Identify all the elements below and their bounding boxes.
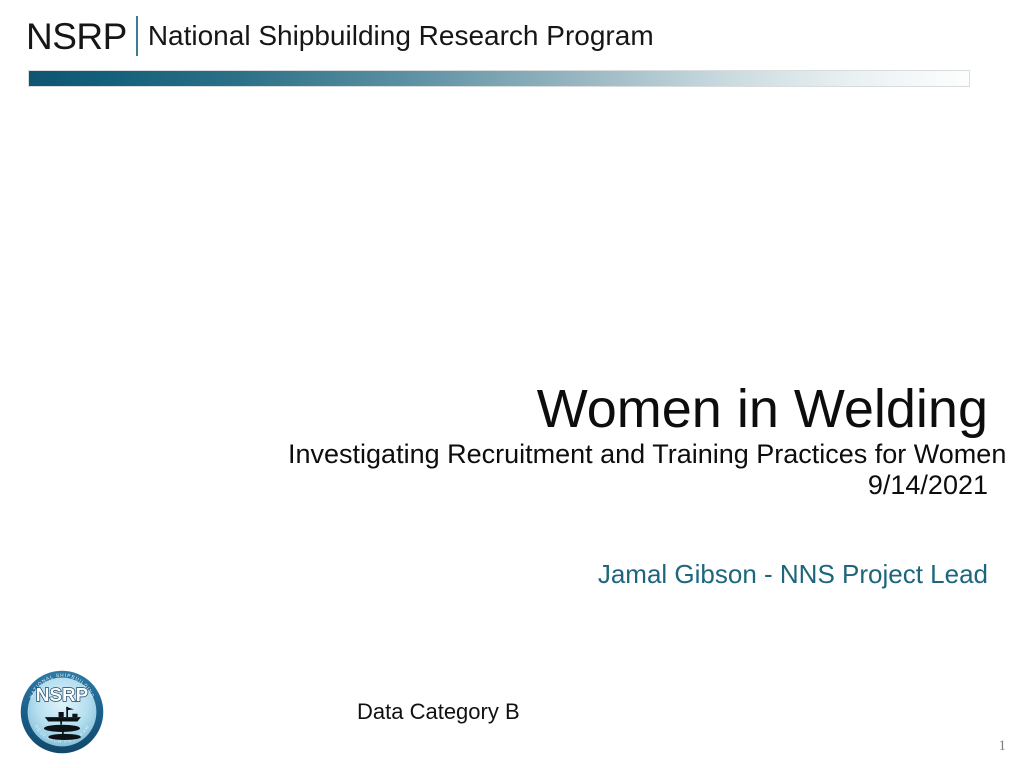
page-title: Women in Welding (288, 382, 988, 436)
nsrp-seal-logo: NATIONAL SHIPBUILDING RESEARCH PROGRAM N… (19, 669, 105, 755)
nsrp-brand-header: NSRP National Shipbuilding Research Prog… (26, 14, 654, 58)
brand-divider-rule (136, 16, 138, 56)
page-number: 1 (999, 739, 1007, 754)
title-block: Women in Welding Investigating Recruitme… (288, 382, 988, 500)
page-subtitle: Investigating Recruitment and Training P… (288, 439, 988, 469)
presenter-byline: Jamal Gibson - NNS Project Lead (288, 560, 988, 589)
nsrp-acronym-wordmark: NSRP (26, 18, 136, 55)
presentation-date: 9/14/2021 (288, 470, 988, 500)
title-slide: NSRP National Shipbuilding Research Prog… (0, 0, 1024, 768)
nsrp-tagline: National Shipbuilding Research Program (148, 22, 654, 50)
header-gradient-rule (28, 70, 970, 87)
nsrp-seal-icon: NATIONAL SHIPBUILDING RESEARCH PROGRAM N… (19, 669, 105, 755)
data-category-label: Data Category B (357, 699, 520, 725)
seal-acronym: NSRP (36, 685, 89, 706)
